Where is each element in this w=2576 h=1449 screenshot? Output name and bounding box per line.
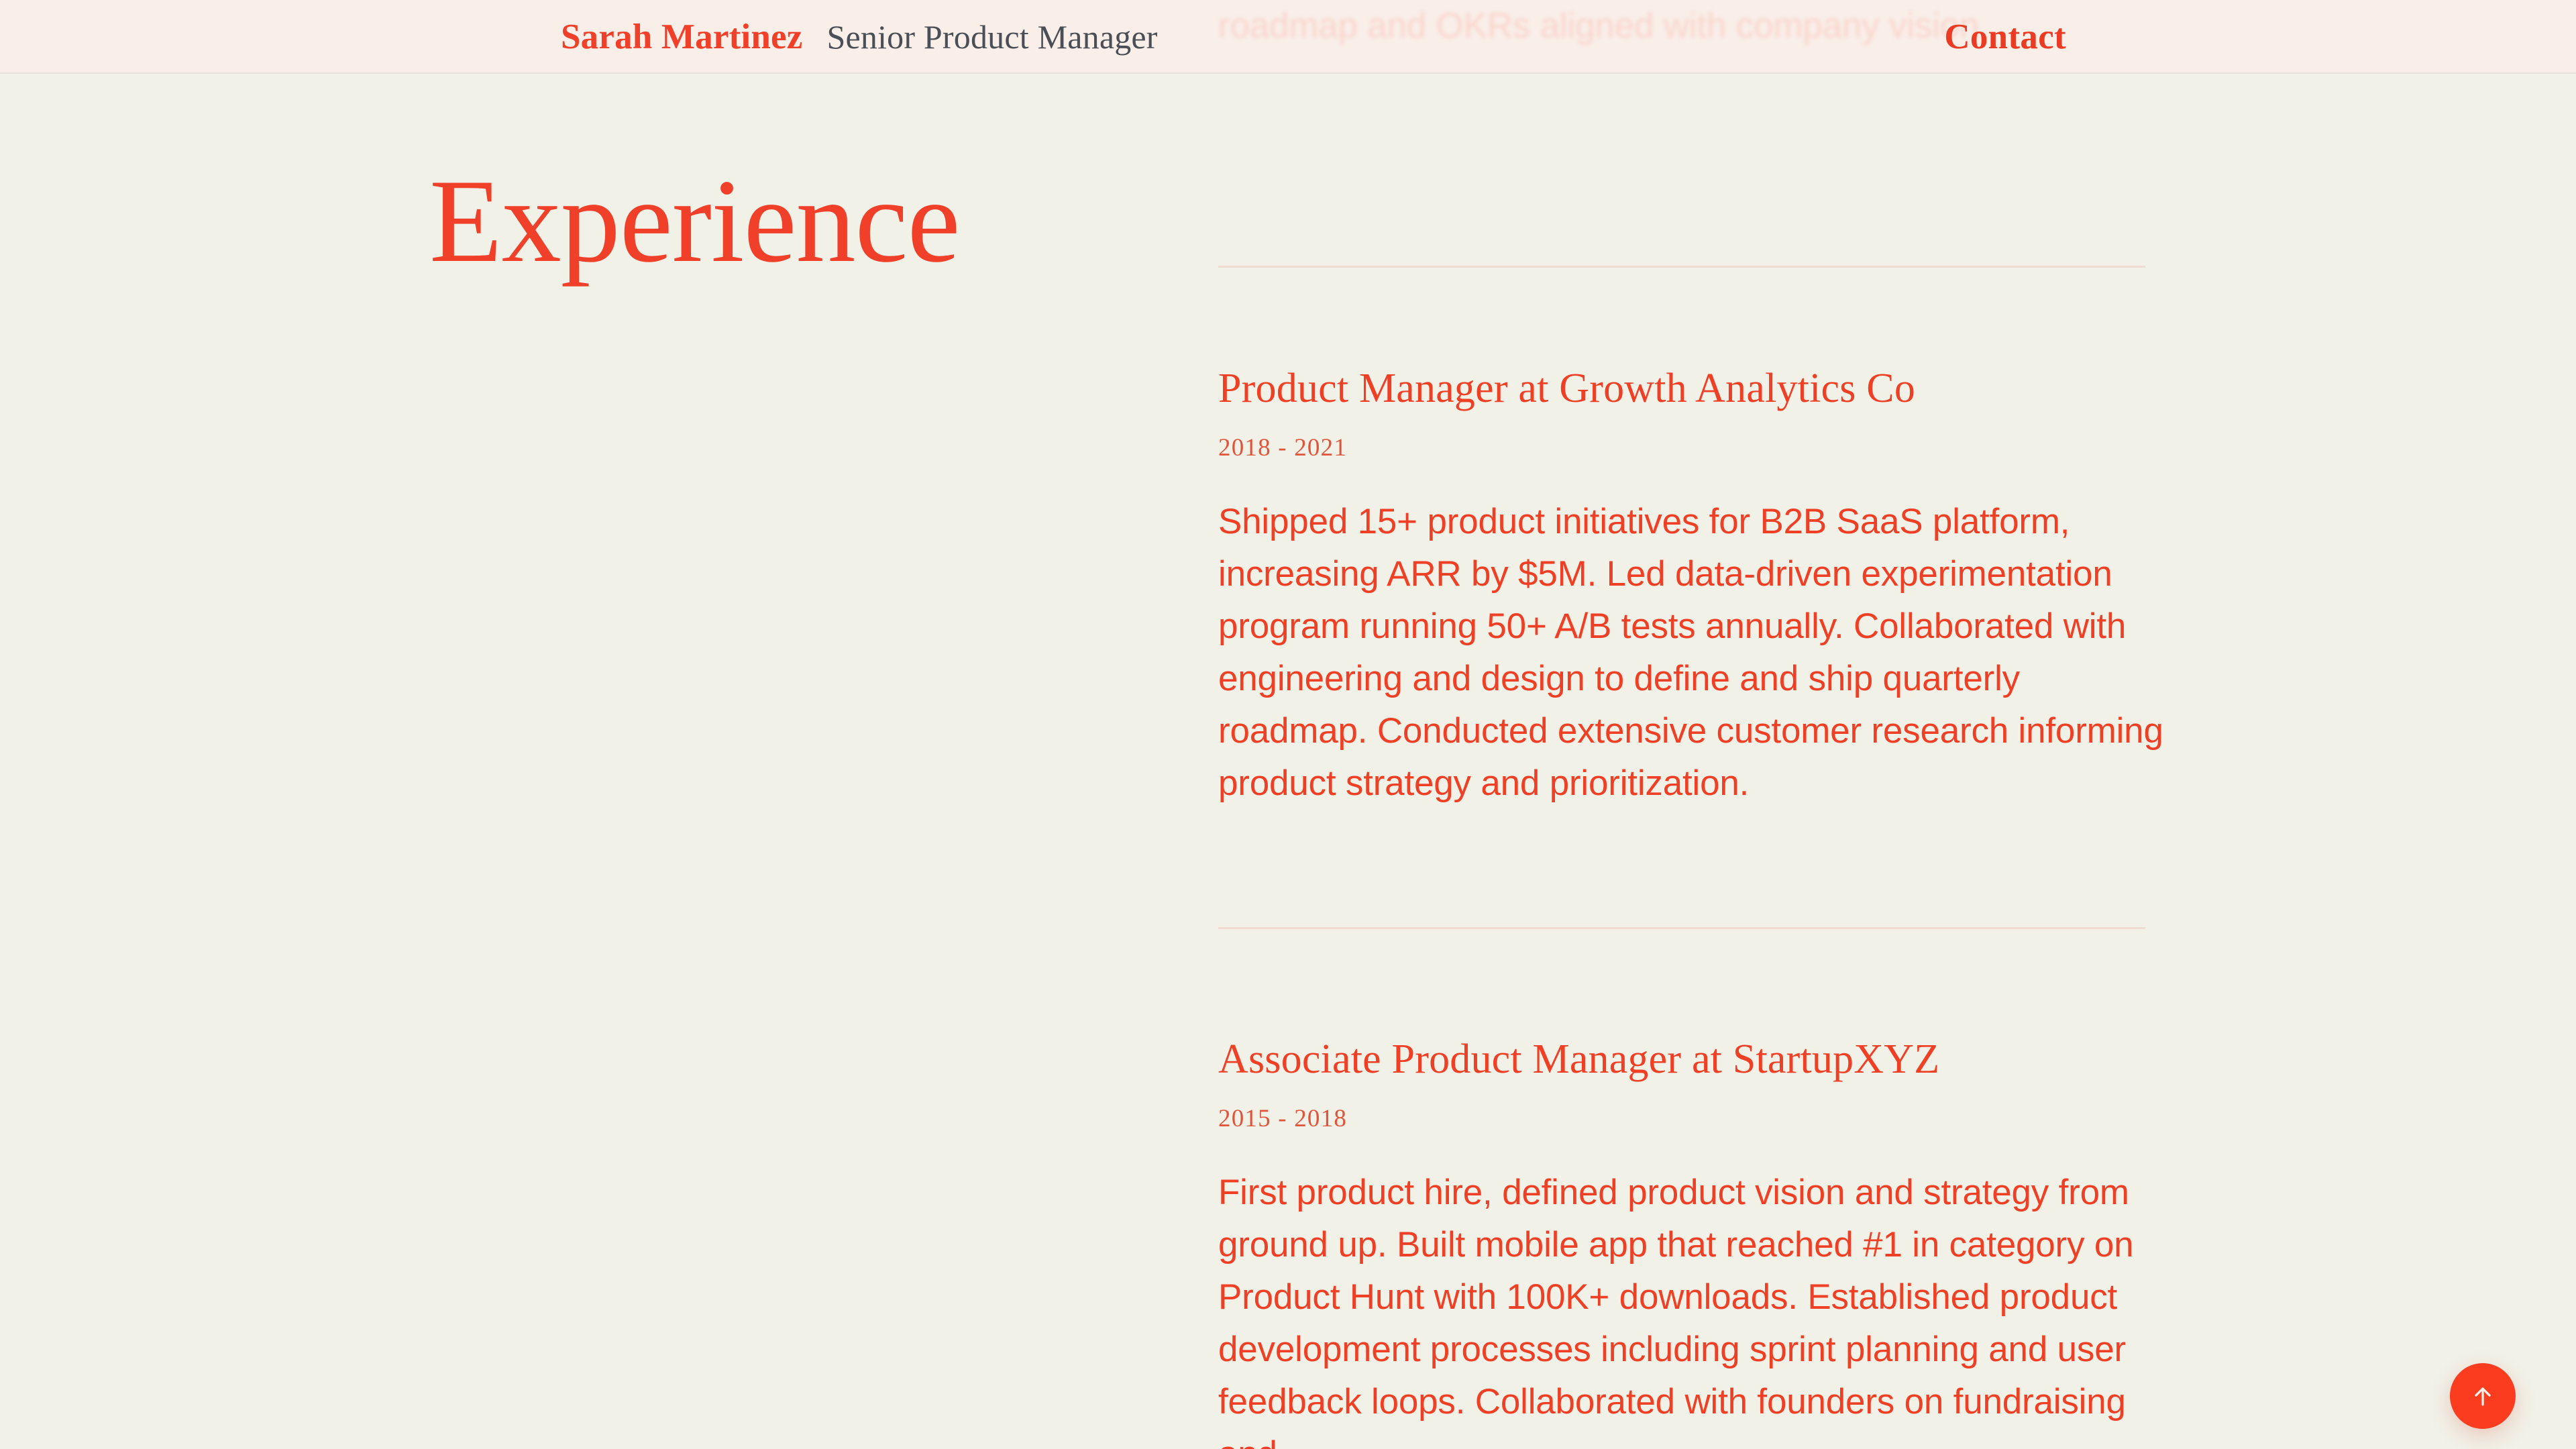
entry-dates: 2015 - 2018: [1218, 1104, 2178, 1134]
entry-description: Shipped 15+ product initiatives for B2B …: [1218, 496, 2178, 810]
experience-entry: Product Manager at Growth Analytics Co 2…: [1218, 366, 2178, 810]
brand-role: Senior Product Manager: [826, 17, 1157, 56]
arrow-up-icon: [2468, 1381, 2498, 1411]
entry-title: Product Manager at Growth Analytics Co: [1218, 366, 2178, 412]
entry-divider: [1218, 266, 2145, 268]
left-column: Experience: [0, 0, 1218, 1449]
entry-divider: [1218, 927, 2145, 929]
experience-list: engineers, designers, and analysts. Defi…: [1218, 0, 2576, 1449]
page-title: Experience: [429, 161, 959, 280]
page-root: Experience engineers, designers, and ana…: [0, 0, 2576, 1449]
entry-description: First product hire, defined product visi…: [1218, 1167, 2178, 1449]
entry-dates: 2018 - 2021: [1218, 433, 2178, 463]
experience-entry: Associate Product Manager at StartupXYZ …: [1218, 1036, 2178, 1449]
entry-title: Associate Product Manager at StartupXYZ: [1218, 1036, 2178, 1083]
nav-link-contact[interactable]: Contact: [1944, 0, 2066, 74]
scroll-to-top-button[interactable]: [2450, 1363, 2516, 1429]
brand-block[interactable]: Sarah Martinez Senior Product Manager: [561, 0, 1158, 74]
site-header: Sarah Martinez Senior Product Manager Co…: [0, 0, 2576, 74]
main-content: Experience engineers, designers, and ana…: [0, 0, 2576, 1449]
brand-name[interactable]: Sarah Martinez: [561, 17, 802, 57]
